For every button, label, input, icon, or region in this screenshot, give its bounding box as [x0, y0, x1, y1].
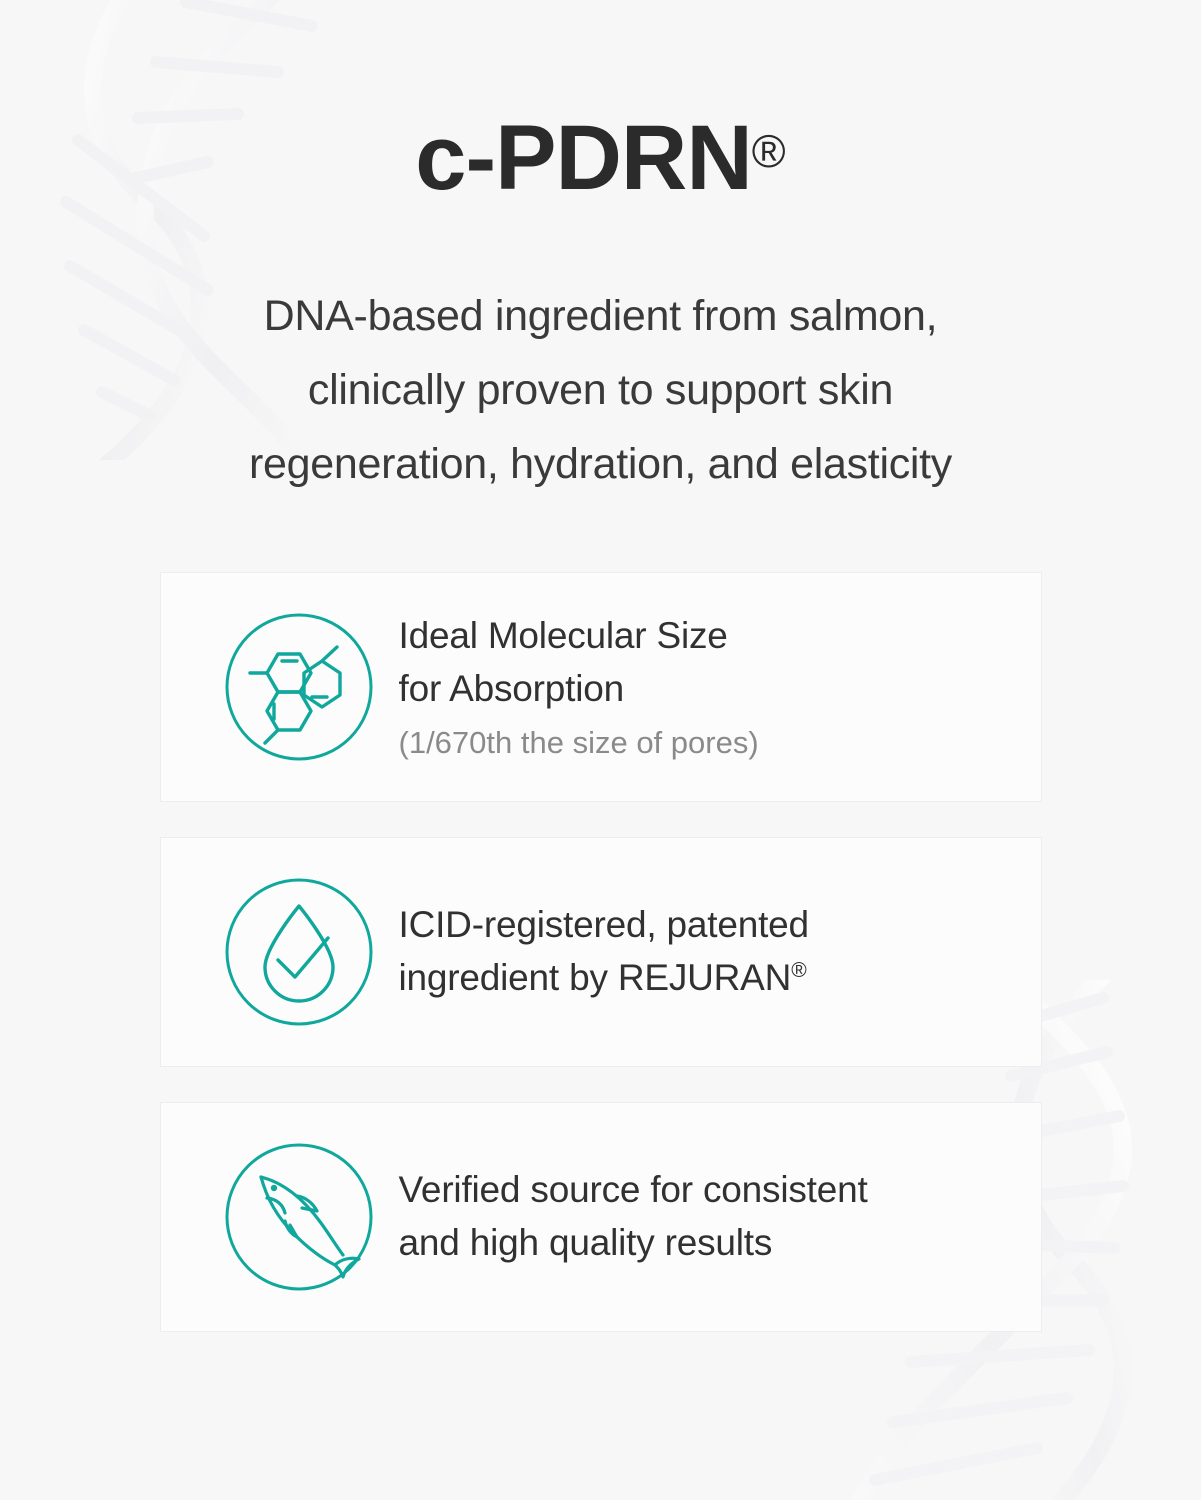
feature-card-note: (1/670th the size of pores)	[399, 723, 759, 763]
feature-title-line: Verified source for consistent	[399, 1169, 868, 1210]
feature-card-body: Verified source for consistent and high …	[399, 1164, 888, 1269]
feature-title-line: ICID-registered, patented	[399, 904, 809, 945]
feature-title-line: for Absorption	[399, 668, 625, 709]
registered-trademark-symbol: ®	[752, 125, 786, 177]
page-title: c-PDRN®	[0, 112, 1201, 204]
feature-card-body: Ideal Molecular Size for Absorption (1/6…	[399, 610, 779, 763]
registered-trademark-symbol: ®	[791, 959, 806, 982]
subtitle-line: clinically proven to support skin	[308, 366, 893, 414]
hero-subtitle: DNA-based ingredient from salmon, clinic…	[0, 280, 1201, 502]
subtitle-line: DNA-based ingredient from salmon,	[264, 292, 938, 340]
fish-icon	[223, 1141, 375, 1293]
feature-title-line: and high quality results	[399, 1222, 773, 1263]
feature-card-title: ICID-registered, patented ingredient by …	[399, 899, 809, 1004]
feature-title-line: Ideal Molecular Size	[399, 615, 728, 656]
brand-name: c-PDRN	[415, 107, 751, 209]
hero-section: c-PDRN® DNA-based ingredient from salmon…	[0, 112, 1201, 502]
feature-card-verified-source: Verified source for consistent and high …	[160, 1102, 1042, 1332]
product-ingredient-infographic: c-PDRN® DNA-based ingredient from salmon…	[0, 0, 1201, 1500]
feature-card-icid-registered: ICID-registered, patented ingredient by …	[160, 837, 1042, 1067]
subtitle-line: regeneration, hydration, and elasticity	[249, 440, 952, 488]
molecule-icon	[223, 611, 375, 763]
water-drop-check-icon	[223, 876, 375, 1028]
feature-card-title: Verified source for consistent and high …	[399, 1164, 868, 1269]
feature-card-molecular-size: Ideal Molecular Size for Absorption (1/6…	[160, 572, 1042, 802]
feature-card-list: Ideal Molecular Size for Absorption (1/6…	[160, 572, 1042, 1332]
feature-card-body: ICID-registered, patented ingredient by …	[399, 899, 829, 1004]
feature-title-line: ingredient by REJURAN	[399, 957, 792, 998]
feature-card-title: Ideal Molecular Size for Absorption	[399, 610, 759, 715]
